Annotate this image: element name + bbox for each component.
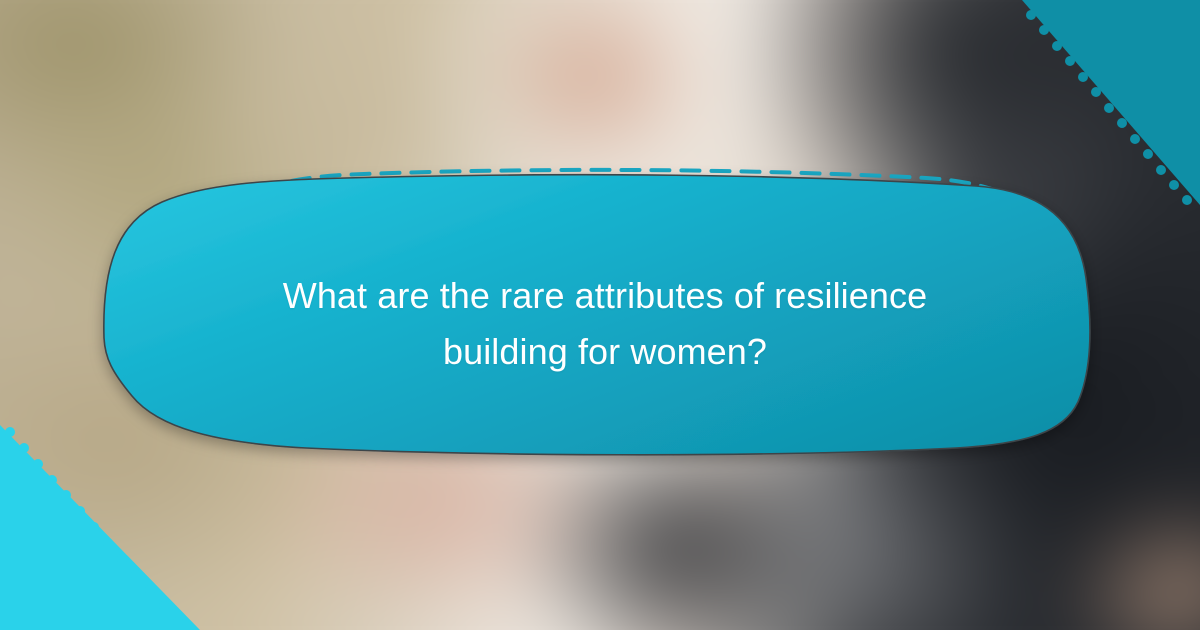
question-card[interactable] <box>96 160 1106 460</box>
card-body <box>104 175 1090 455</box>
share-card-canvas: What are the rare attributes of resilien… <box>0 0 1200 630</box>
